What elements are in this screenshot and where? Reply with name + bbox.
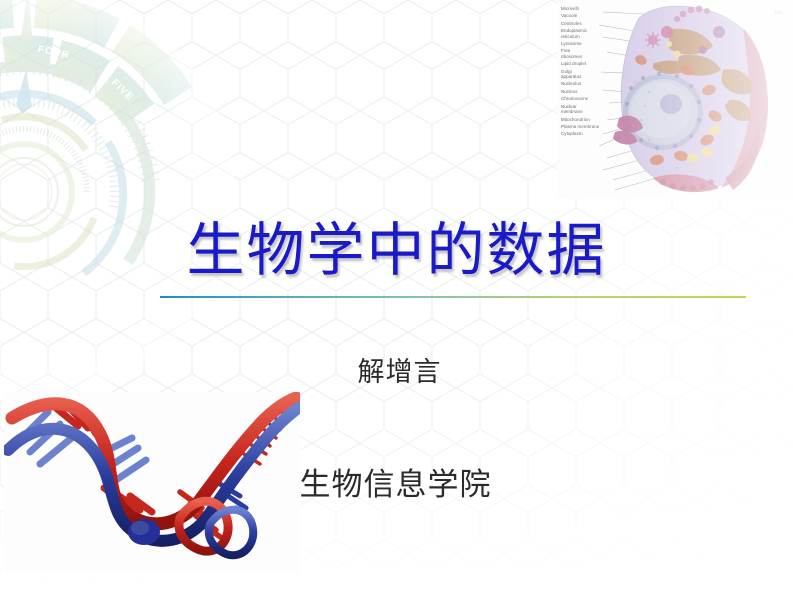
author-name-text: 解增言 [358, 356, 442, 390]
department-name-text: 生物信息学院 [300, 465, 492, 505]
author-name: 解增言 [0, 356, 793, 390]
presentation-title-slide: TWO THREE FOUR FIVE [0, 0, 793, 595]
tech-circle-graphic: TWO THREE FOUR FIVE [0, 0, 234, 402]
department-name: 生物信息学院 [0, 465, 793, 505]
title-divider [160, 296, 746, 298]
page-title: 生物学中的数据 [0, 214, 793, 286]
